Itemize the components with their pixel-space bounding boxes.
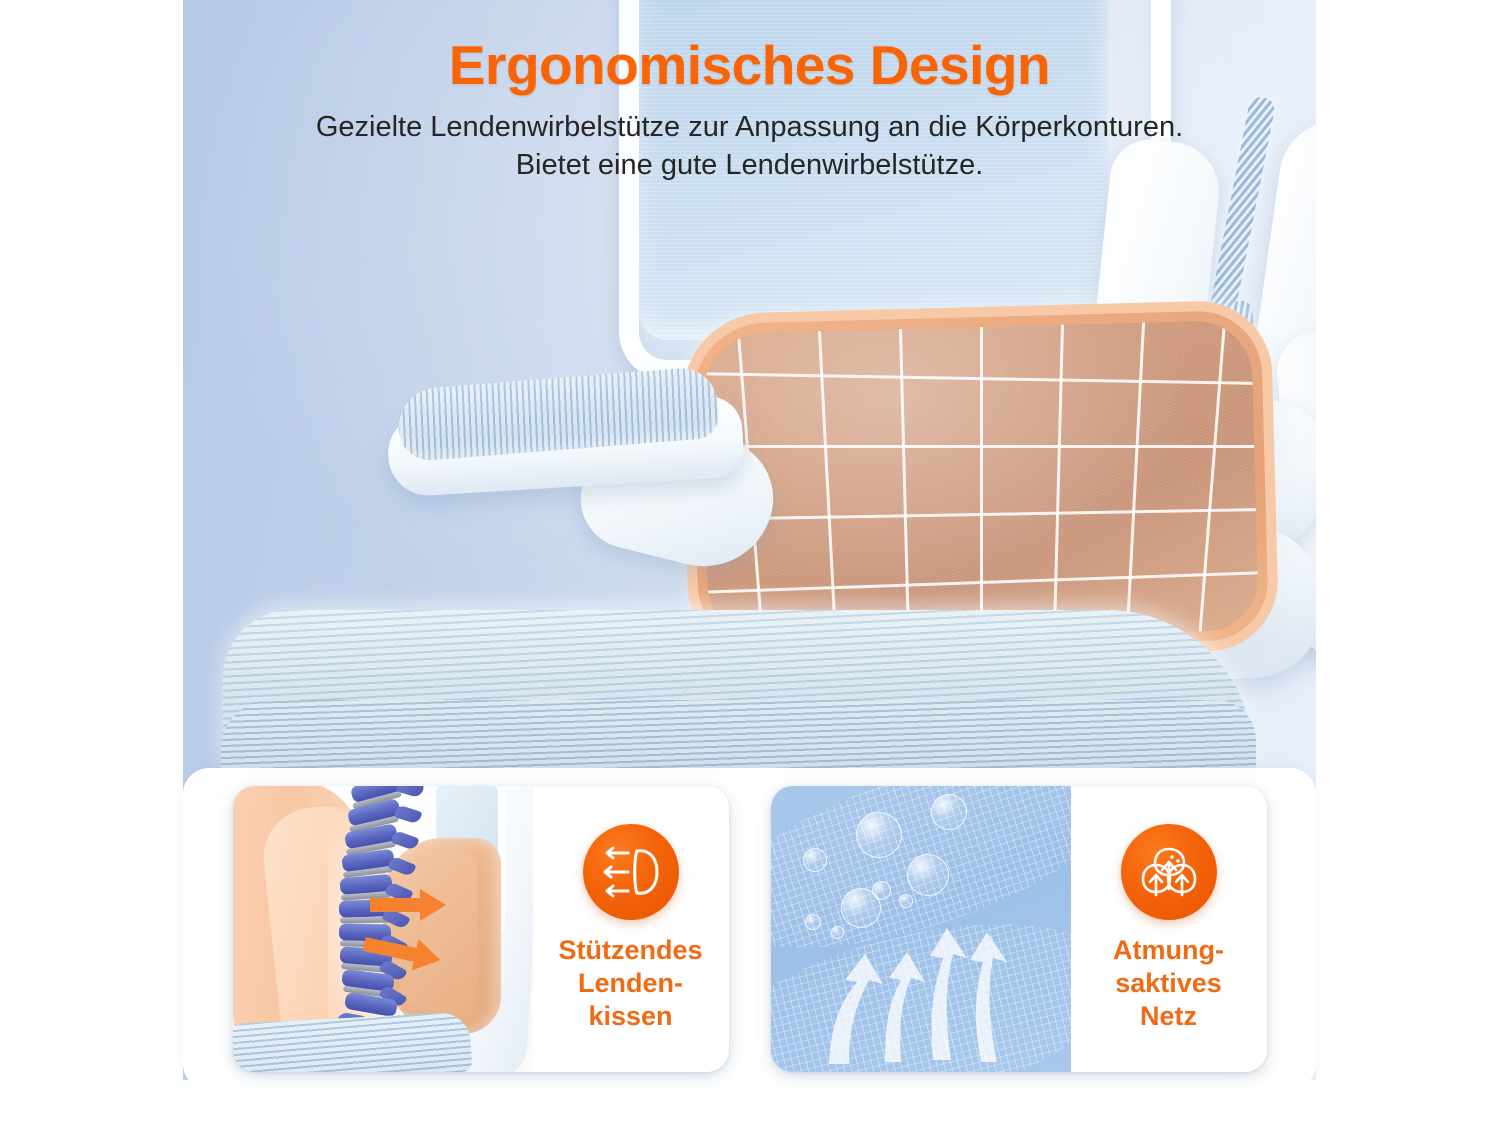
pressure-arrow-lower (363, 928, 483, 988)
feature-card-lumbar-text: Stützendes Lenden- kissen (533, 786, 729, 1072)
mesh-fabric-bubbles-airflow-illustration (771, 786, 1071, 1072)
feature-card-mesh-text: Atmung- saktives Netz (1071, 786, 1267, 1072)
feature-card-mesh-label: Atmung- saktives Netz (1113, 934, 1224, 1033)
lumbar-cushion-arrows-icon (583, 824, 679, 920)
pressure-arrow-upper (368, 882, 483, 928)
lumbar-support-surface (701, 320, 1259, 644)
bubble-1 (803, 848, 827, 872)
bubble-2 (856, 812, 902, 858)
mesh-label-line-3: Netz (1113, 1000, 1224, 1033)
feature-card-list: Stützendes Lenden- kissen (183, 768, 1316, 1090)
bubble-3 (931, 794, 967, 830)
feature-card-lumbar-label: Stützendes Lenden- kissen (558, 934, 702, 1033)
lumbar-label-line-2: Lenden- (558, 967, 702, 1000)
lumbar-label-line-3: kissen (558, 1000, 702, 1033)
mesh-label-line-1: Atmung- (1113, 934, 1224, 967)
feature-card-lumbar-support[interactable]: Stützendes Lenden- kissen (233, 786, 729, 1072)
lumbar-support-highlight (691, 310, 1269, 655)
mesh-label-line-2: saktives (1113, 967, 1224, 1000)
lumbar-gloss (701, 320, 1259, 644)
bubble-4 (907, 854, 949, 896)
product-feature-banner: Ergonomisches Design Gezielte Lendenwirb… (0, 0, 1500, 1125)
feature-panel: Stützendes Lenden- kissen (183, 768, 1316, 1090)
lumbar-label-line-1: Stützendes (558, 934, 702, 967)
spine-lumbar-cushion-illustration (233, 786, 533, 1072)
breathable-airflow-icon (1121, 824, 1217, 920)
airflow-arrows (801, 896, 1061, 1072)
feature-card-breathable-mesh[interactable]: Atmung- saktives Netz (771, 786, 1267, 1072)
